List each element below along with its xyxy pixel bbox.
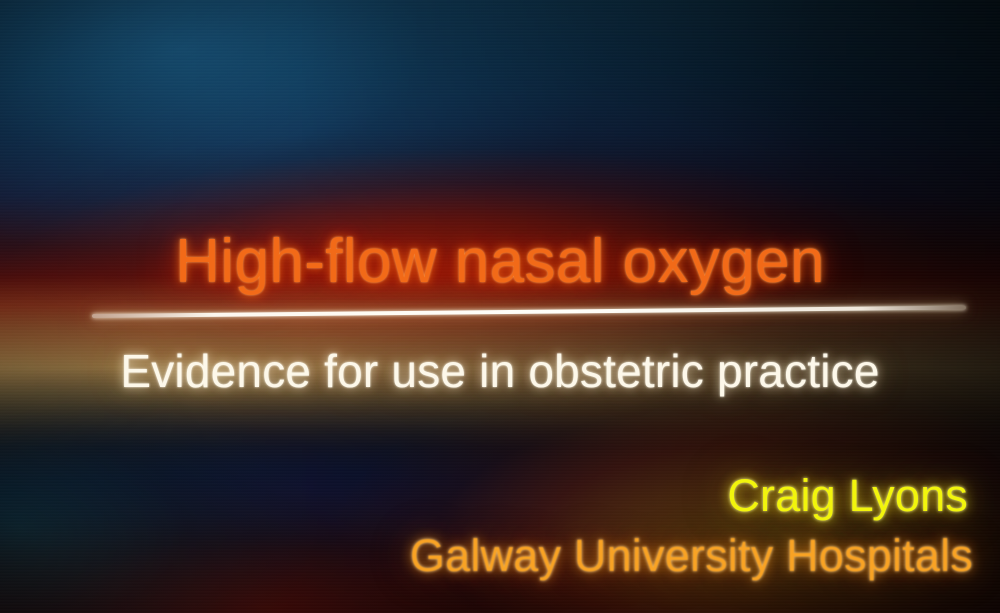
slide-subtitle: Evidence for use in obstetric practice — [0, 344, 1000, 398]
presenter-name: Craig Lyons — [727, 470, 968, 522]
presentation-slide: High-flow nasal oxygen Evidence for use … — [0, 0, 1000, 613]
title-divider-rule — [92, 306, 966, 318]
slide-title: High-flow nasal oxygen — [0, 226, 1000, 297]
slide-content: High-flow nasal oxygen Evidence for use … — [0, 0, 1000, 613]
presenter-affiliation: Galway University Hospitals — [410, 530, 973, 582]
